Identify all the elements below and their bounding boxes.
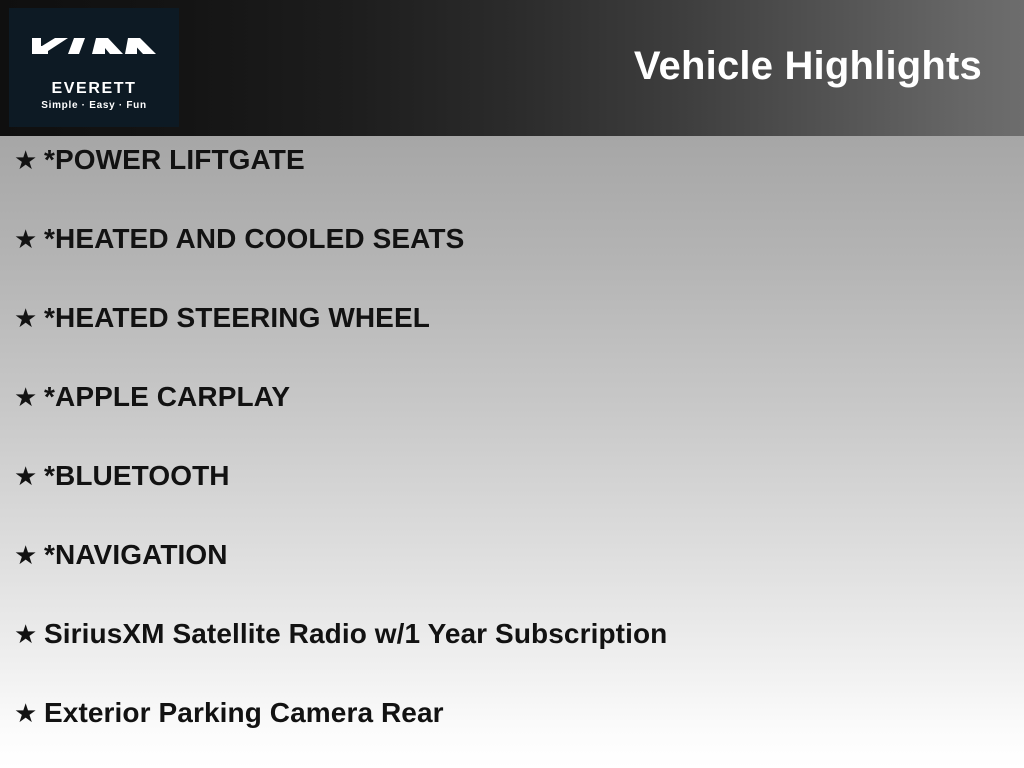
star-bullet-icon: ★ (14, 373, 44, 421)
list-item: ★ *HEATED AND COOLED SEATS (0, 215, 1024, 294)
highlight-label: *POWER LIFTGATE (44, 136, 305, 184)
star-bullet-icon: ★ (14, 215, 44, 263)
highlights-list: ★ *POWER LIFTGATE ★ *HEATED AND COOLED S… (0, 136, 1024, 768)
star-bullet-icon: ★ (14, 689, 44, 737)
list-item: ★ *APPLE CARPLAY (0, 373, 1024, 452)
list-item: ★ *BLUETOOTH (0, 452, 1024, 531)
highlight-label: *NAVIGATION (44, 531, 228, 579)
list-item: ★ *NAVIGATION (0, 531, 1024, 610)
dealer-tagline: Simple · Easy · Fun (9, 100, 179, 112)
vehicle-highlights-slide: EVERETT Simple · Easy · Fun Vehicle High… (0, 0, 1024, 768)
header-bar: EVERETT Simple · Easy · Fun Vehicle High… (0, 0, 1024, 136)
highlight-label: *HEATED STEERING WHEEL (44, 294, 430, 342)
star-bullet-icon: ★ (14, 136, 44, 184)
list-item: ★ Exterior Parking Camera Rear (0, 689, 1024, 768)
list-item: ★ SiriusXM Satellite Radio w/1 Year Subs… (0, 610, 1024, 689)
highlight-label: SiriusXM Satellite Radio w/1 Year Subscr… (44, 610, 667, 658)
list-item: ★ *HEATED STEERING WHEEL (0, 294, 1024, 373)
page-title: Vehicle Highlights (634, 41, 982, 91)
star-bullet-icon: ★ (14, 294, 44, 342)
highlight-label: *BLUETOOTH (44, 452, 230, 500)
dealer-name: EVERETT (9, 80, 179, 98)
star-bullet-icon: ★ (14, 610, 44, 658)
highlight-label: *APPLE CARPLAY (44, 373, 290, 421)
highlight-label: Exterior Parking Camera Rear (44, 689, 444, 737)
list-item: ★ *POWER LIFTGATE (0, 136, 1024, 215)
star-bullet-icon: ★ (14, 452, 44, 500)
star-bullet-icon: ★ (14, 531, 44, 579)
kia-wordmark-icon (30, 31, 158, 61)
highlight-label: *HEATED AND COOLED SEATS (44, 215, 464, 263)
dealer-logo: EVERETT Simple · Easy · Fun (9, 8, 179, 127)
